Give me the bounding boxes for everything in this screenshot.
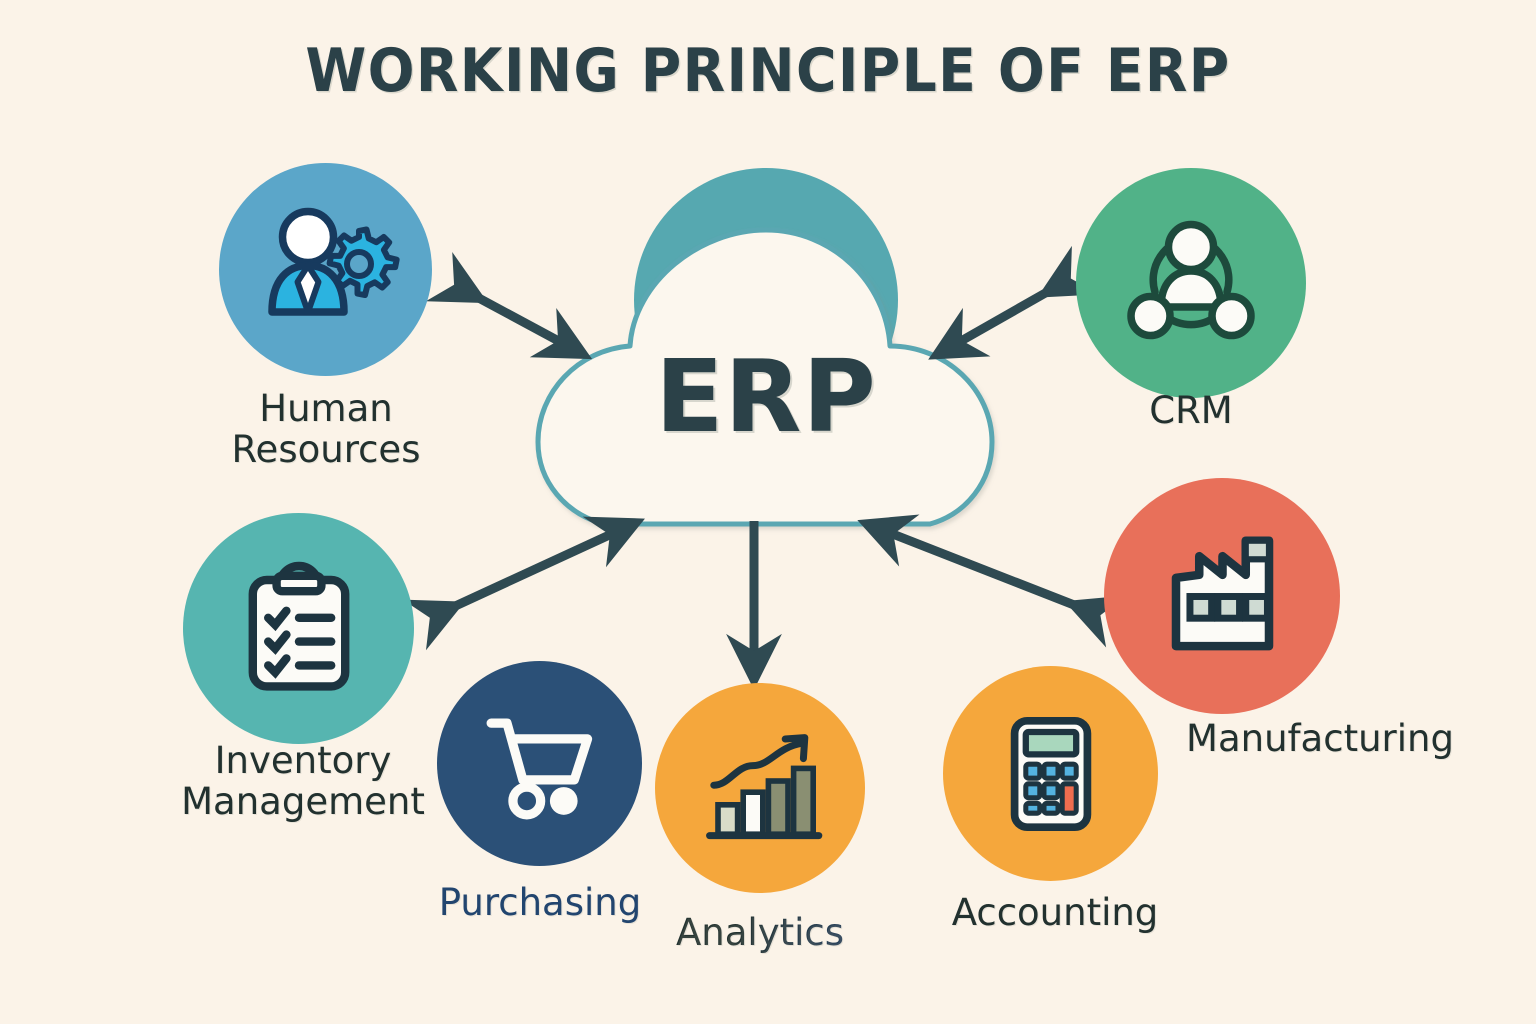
factory-icon [1145, 519, 1300, 674]
infographic-canvas: WORKING PRINCIPLE OF ERP [0, 0, 1536, 1024]
accounting-circle[interactable] [943, 666, 1158, 881]
arrow-manufacturing [885, 531, 1092, 612]
bar-chart-arrow-icon [690, 718, 830, 858]
shopping-cart-icon [474, 698, 606, 830]
analytics-circle[interactable] [655, 683, 865, 893]
inventory-management-circle[interactable] [183, 513, 414, 744]
arrow-inventory [438, 531, 618, 614]
arrow-crm [954, 283, 1063, 345]
clipboard-checklist-icon [229, 559, 369, 699]
manufacturing-label: Manufacturing [1100, 718, 1536, 759]
crm-label: CRM [1056, 390, 1326, 431]
analytics-label: Analytics [600, 912, 920, 953]
human-resources-label: Human Resources [146, 388, 506, 471]
people-network-icon [1116, 208, 1266, 358]
purchasing-circle[interactable] [437, 661, 642, 866]
gear-icon [329, 229, 396, 295]
accounting-label: Accounting [890, 892, 1220, 933]
user-gear-icon [251, 195, 401, 345]
manufacturing-circle[interactable] [1104, 478, 1340, 714]
inventory-management-label: Inventory Management [118, 740, 488, 823]
calculator-icon [981, 704, 1121, 844]
human-resources-circle[interactable] [219, 163, 432, 376]
arrow-hr [462, 289, 566, 345]
crm-circle[interactable] [1076, 168, 1306, 398]
erp-center-label: ERP [556, 338, 976, 455]
